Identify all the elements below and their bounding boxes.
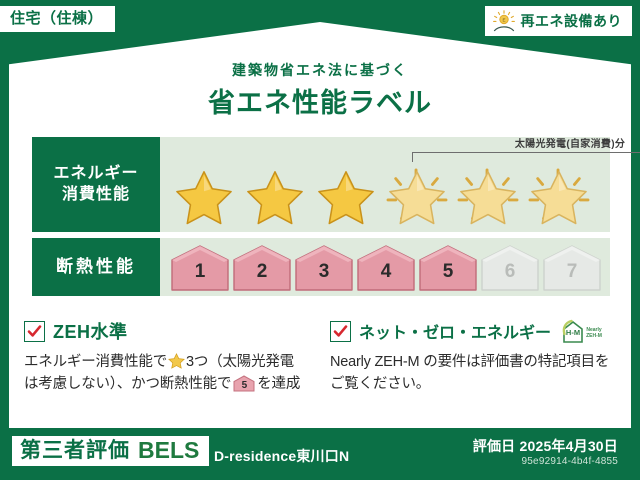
bels-logo-text: BELS bbox=[138, 439, 199, 462]
insulation-grade-value: 5 bbox=[418, 261, 478, 283]
energy-star-rating bbox=[160, 160, 610, 232]
label-subtitle: 建築物省エネ法に基づく bbox=[0, 60, 640, 80]
insulation-grade-2: 2 bbox=[232, 244, 292, 292]
zeh-standard-block: ZEH水準 エネルギー消費性能で3つ（太陽光発電 は考慮しない）、かつ断熱性能で… bbox=[24, 318, 314, 395]
energy-performance-row: エネルギー 消費性能 太陽光発電(自家消費)分 bbox=[32, 137, 610, 232]
energy-performance-label: エネルギー 消費性能 bbox=[32, 137, 160, 232]
svg-text:H-M: H-M bbox=[566, 328, 580, 337]
solar-star-icon bbox=[454, 160, 522, 226]
insulation-grade-4: 4 bbox=[356, 244, 416, 292]
evaluation-date: 評価日 2025年4月30日 bbox=[473, 436, 618, 456]
insulation-grade-value: 4 bbox=[356, 261, 416, 283]
evaluation-date-value: 2025年4月30日 bbox=[519, 438, 618, 454]
energy-label-line1: エネルギー bbox=[53, 164, 138, 185]
solar-annotation: 太陽光発電(自家消費)分 bbox=[412, 139, 640, 162]
insulation-grade-value: 7 bbox=[542, 261, 602, 283]
bels-chip: 第三者評価 BELS bbox=[12, 436, 209, 466]
inline-grade-badge: 5 bbox=[233, 375, 255, 392]
zeh-standard-header: ZEH水準 bbox=[24, 318, 314, 344]
insulation-grade-value: 6 bbox=[480, 261, 540, 283]
performance-rows: エネルギー 消費性能 太陽光発電(自家消費)分 断熱性能 1234567 bbox=[32, 137, 610, 302]
sun-icon: E bbox=[492, 10, 516, 32]
solar-star-icon bbox=[383, 160, 451, 226]
inline-grade-value: 5 bbox=[233, 378, 255, 393]
insulation-performance-label: 断熱性能 bbox=[32, 238, 160, 296]
net-zero-energy-description: Nearly ZEH-M の要件は評価書の特記項目をご覧ください。 bbox=[330, 351, 620, 395]
zeh-desc-part2: は考慮しない）、かつ断熱性能で bbox=[24, 376, 231, 392]
renewable-badge-label: 再エネ設備あり bbox=[521, 14, 623, 28]
zeh-checkbox[interactable] bbox=[24, 321, 45, 342]
insulation-grade-value: 1 bbox=[170, 261, 230, 283]
solar-annotation-label: 太陽光発電(自家消費)分 bbox=[412, 139, 640, 150]
insulation-grades-area: 1234567 bbox=[160, 238, 610, 296]
criteria-sections: ZEH水準 エネルギー消費性能で3つ（太陽光発電 は考慮しない）、かつ断熱性能で… bbox=[24, 318, 620, 395]
zeh-standard-title: ZEH水準 bbox=[53, 318, 128, 344]
insulation-performance-row: 断熱性能 1234567 bbox=[32, 238, 610, 296]
third-party-eval-label: 第三者評価 bbox=[20, 440, 130, 461]
energy-label-line2: 消費性能 bbox=[62, 185, 130, 206]
zeh-desc-part3: を達成 bbox=[257, 376, 300, 392]
energy-star-icon bbox=[312, 160, 380, 226]
insulation-grade-3: 3 bbox=[294, 244, 354, 292]
zeh-desc-stars: 3つ（太陽光発電 bbox=[186, 354, 294, 370]
net-zero-energy-block: ネット・ゼロ・エネルギー H-M Nearly ZEH-M Nearly ZEH… bbox=[330, 318, 620, 395]
zeh-desc-part1: エネルギー消費性能で bbox=[24, 354, 167, 370]
insulation-grade-value: 2 bbox=[232, 261, 292, 283]
insulation-grade-5: 5 bbox=[418, 244, 478, 292]
renewable-equipment-badge: E 再エネ設備あり bbox=[485, 6, 633, 36]
energy-star-icon bbox=[170, 160, 238, 226]
energy-star-icon bbox=[241, 160, 309, 226]
insulation-grade-7: 7 bbox=[542, 244, 602, 292]
energy-stars-area: 太陽光発電(自家消費)分 bbox=[160, 137, 610, 232]
insulation-grade-value: 3 bbox=[294, 261, 354, 283]
building-name: D-residence東川口N bbox=[214, 446, 349, 466]
svg-text:ZEH-M: ZEH-M bbox=[586, 333, 602, 339]
category-tag: 住宅（住棟） bbox=[0, 6, 115, 32]
evaluation-id: 95e92914-4b4f-4855 bbox=[522, 456, 618, 467]
net-zero-energy-title: ネット・ゼロ・エネルギー bbox=[359, 319, 551, 343]
label-main-title: 省エネ性能ラベル bbox=[0, 81, 640, 120]
energy-performance-label: 住宅（住棟） E 再エネ設備あり 建築物省エネ法に基づく 省エネ性 bbox=[0, 0, 640, 480]
insulation-grade-scale: 1234567 bbox=[160, 244, 608, 296]
inline-star-icon bbox=[168, 353, 185, 370]
net-zero-energy-header: ネット・ゼロ・エネルギー H-M Nearly ZEH-M bbox=[330, 318, 620, 344]
zeh-standard-description: エネルギー消費性能で3つ（太陽光発電 は考慮しない）、かつ断熱性能で5を達成 bbox=[24, 351, 314, 395]
evaluation-date-label: 評価日 bbox=[473, 438, 516, 454]
insulation-grade-1: 1 bbox=[170, 244, 230, 292]
svg-text:E: E bbox=[502, 18, 505, 23]
label-footer: 第三者評価 BELS D-residence東川口N 評価日 2025年4月30… bbox=[0, 430, 640, 480]
zeh-m-logo-icon: H-M Nearly ZEH-M bbox=[561, 318, 605, 344]
solar-star-icon bbox=[525, 160, 593, 226]
nze-checkbox[interactable] bbox=[330, 321, 351, 342]
insulation-grade-6: 6 bbox=[480, 244, 540, 292]
